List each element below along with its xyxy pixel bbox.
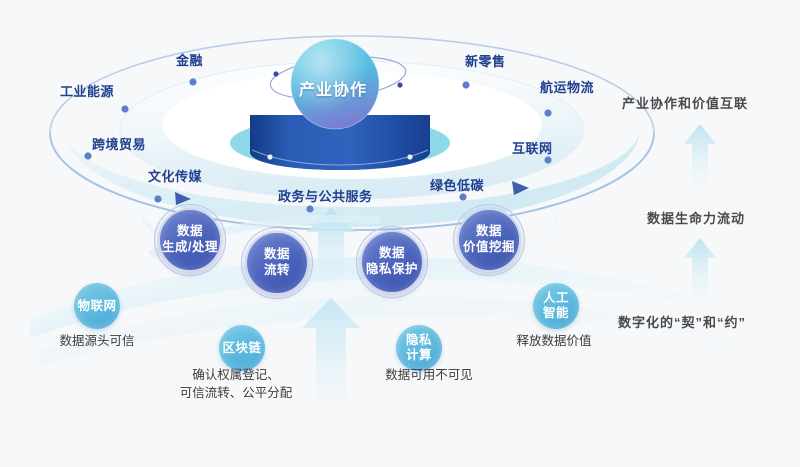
right-annotation-digital-contract: 数字化的“契”和“约” bbox=[618, 315, 746, 331]
data-node-circulation[interactable]: 数据 流转 bbox=[245, 231, 309, 295]
orbit-label-new-retail[interactable]: 新零售 bbox=[465, 54, 506, 70]
tech-caption-blockchain: 确认权属登记、 可信流转、公平分配 bbox=[156, 366, 316, 402]
tech-node-label: 物联网 bbox=[77, 299, 116, 314]
tech-node-blockchain[interactable]: 区块链 bbox=[219, 325, 265, 371]
orbit-label-finance[interactable]: 金融 bbox=[176, 53, 203, 69]
orbit-label-internet[interactable]: 互联网 bbox=[512, 141, 553, 157]
diagram-canvas: 产业协作 工业能源 金融 新零售 航运物流 互联网 绿色低碳 政务与公共服务 文… bbox=[0, 0, 800, 467]
data-node-label: 数据 价值挖掘 bbox=[463, 224, 515, 255]
data-node-generation-processing[interactable]: 数据 生成/处理 bbox=[158, 208, 222, 272]
right-annotation-industry-collaboration: 产业协作和价值互联 bbox=[622, 96, 748, 112]
right-annotation-data-vitality-flow: 数据生命力流动 bbox=[647, 211, 745, 227]
tech-caption-privacy-computing: 数据可用不可见 bbox=[359, 366, 499, 384]
orbit-label-shipping-logistics[interactable]: 航运物流 bbox=[540, 80, 594, 96]
orbit-label-government-public-services[interactable]: 政务与公共服务 bbox=[278, 189, 373, 205]
data-node-label: 数据 生成/处理 bbox=[162, 224, 218, 255]
tech-node-ai[interactable]: 人工 智能 bbox=[533, 283, 579, 329]
data-node-value-mining[interactable]: 数据 价值挖掘 bbox=[457, 208, 521, 272]
orbit-label-cross-border-trade[interactable]: 跨境贸易 bbox=[92, 137, 146, 153]
tech-caption-iot: 数据源头可信 bbox=[27, 332, 167, 350]
orbit-label-green-low-carbon[interactable]: 绿色低碳 bbox=[430, 178, 484, 194]
tech-node-iot[interactable]: 物联网 bbox=[74, 283, 120, 329]
data-node-label: 数据 流转 bbox=[264, 247, 290, 278]
core-sphere-label: 产业协作 bbox=[299, 76, 367, 100]
tech-node-label: 区块链 bbox=[222, 341, 261, 356]
orbit-label-culture-media[interactable]: 文化传媒 bbox=[148, 169, 202, 185]
tech-node-privacy-computing[interactable]: 隐私 计算 bbox=[396, 325, 442, 371]
tech-caption-ai: 释放数据价值 bbox=[484, 332, 624, 350]
tech-node-label: 隐私 计算 bbox=[406, 333, 432, 363]
orbit-label-industrial-energy[interactable]: 工业能源 bbox=[60, 84, 114, 100]
data-node-label: 数据 隐私保护 bbox=[366, 246, 418, 277]
tech-node-label: 人工 智能 bbox=[543, 291, 569, 321]
data-node-privacy-protection[interactable]: 数据 隐私保护 bbox=[360, 230, 424, 294]
